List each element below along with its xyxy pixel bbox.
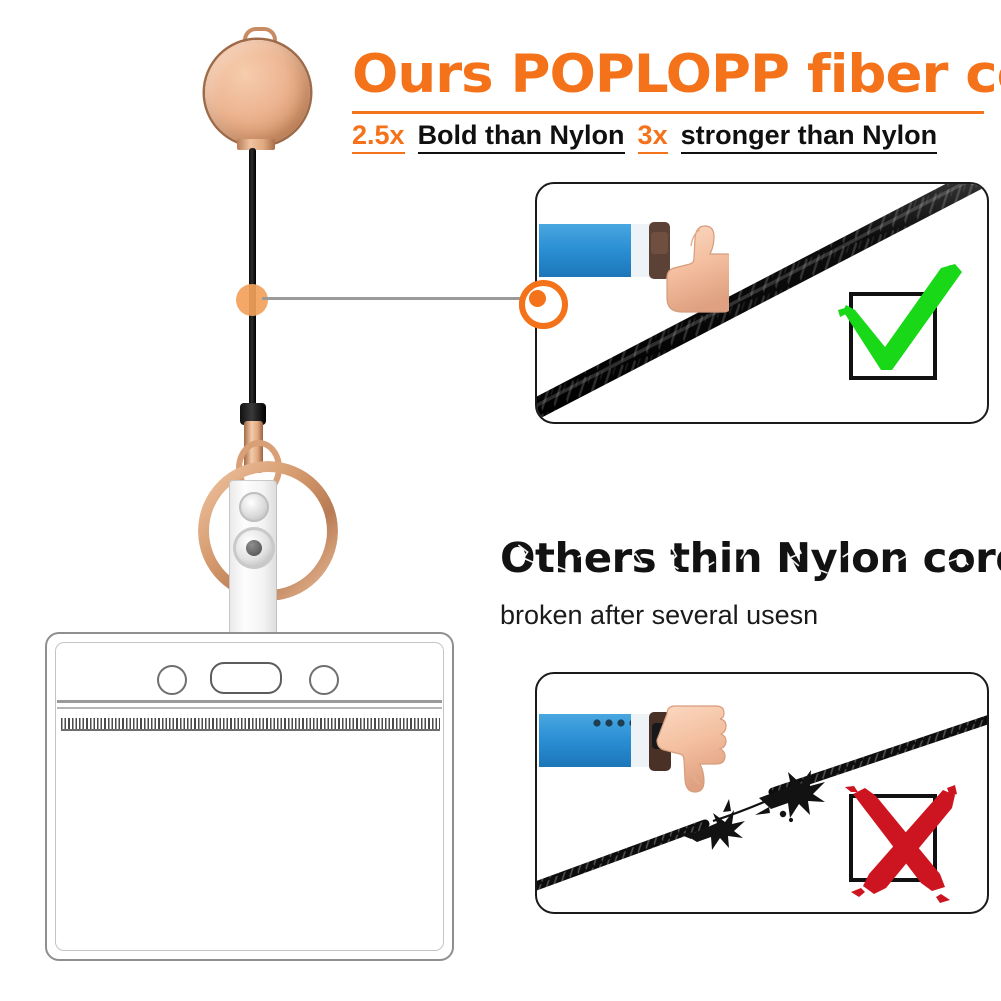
page-title: Ours POPLOPP fiber cord [352, 44, 1001, 106]
callout-target-ring [519, 280, 568, 329]
badge-reel-disc [205, 40, 310, 145]
subtitle-multiplier-1: 2.5x [352, 118, 405, 154]
infographic-canvas: Ours POPLOPP fiber cord 2.5x Bold than N… [0, 0, 1001, 1001]
sleeve-button [593, 719, 600, 726]
green-check-icon [829, 262, 979, 382]
holder-seal-line-lower [57, 707, 442, 709]
others-title-text: Others thin Nylon cord [500, 534, 1001, 582]
fiber-cord-strand [249, 148, 256, 418]
others-subtitle: broken after several usesn [500, 598, 990, 632]
holder-zipper-teeth [61, 718, 440, 729]
holder-zipper-rail [61, 729, 440, 731]
holder-center-slot [210, 662, 282, 694]
subtitle-claim-2: stronger than Nylon [681, 118, 938, 154]
id-card-holder [45, 632, 454, 961]
holder-seal-line-upper [57, 700, 442, 703]
comparison-card-ours [535, 182, 989, 424]
reel-cord-outlet [237, 139, 275, 150]
callout-connector-line [262, 297, 545, 300]
comparison-card-others [535, 672, 989, 914]
holder-punch-hole-right [309, 665, 339, 695]
strap-rivet-bottom [233, 527, 275, 569]
holder-punch-hole-left [157, 665, 187, 695]
subtitle-claim-1: Bold than Nylon [418, 118, 625, 154]
others-title: Others thin Nylon cord [500, 533, 1000, 583]
red-cross-icon [833, 776, 973, 906]
cord-highlight-dot [236, 284, 268, 316]
strap-rivet-top [239, 492, 269, 522]
sleeve-button [617, 719, 624, 726]
thumbs-down-icon [539, 692, 729, 837]
subtitle-multiplier-2: 3x [638, 118, 668, 154]
subtitle-row: 2.5x Bold than Nylon 3x stronger than Ny… [352, 118, 992, 152]
callout-target-core [529, 290, 546, 307]
sleeve-button [605, 719, 612, 726]
title-underline-rule [352, 111, 984, 114]
